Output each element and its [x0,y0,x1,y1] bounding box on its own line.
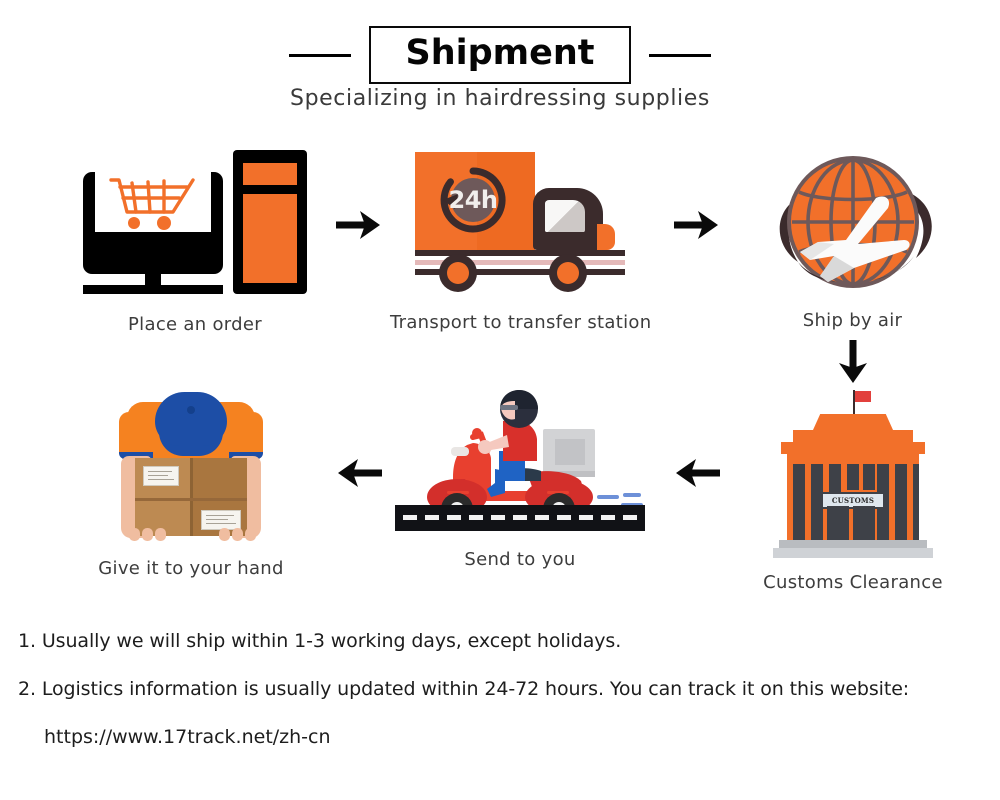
customs-door-left [827,506,849,540]
courier-cap-button [187,406,195,414]
badge-24h: 24h [437,164,509,236]
monitor-stand-base [83,285,223,294]
computer-cart-icon [83,150,307,296]
pc-tower-panel [243,194,297,283]
step-label-send-to-you: Send to you [390,549,650,570]
customs-flag [855,391,871,402]
truck-wheel-rear-hub [447,262,469,284]
shopping-cart-icon [107,174,203,230]
truck-nose [597,224,615,250]
step-place-an-order: Place an order [60,150,330,335]
customs-roof-mid [793,430,913,442]
customs-window [913,464,919,540]
header-rule-right [649,54,711,57]
step-label-place-an-order: Place an order [60,314,330,335]
parcel-box-seam [190,458,193,536]
notes-section: 1. Usually we will ship within 1-3 worki… [18,630,978,748]
tracking-url[interactable]: https://www.17track.net/zh-cn [44,726,978,748]
customs-door-right [853,506,875,540]
delivery-truck-icon: 24h [415,152,625,296]
shipment-infographic: Shipment Specializing in hairdressing su… [0,0,1000,800]
scooter-courier-icon [395,385,645,535]
customs-window-upper [847,464,859,490]
badge-24h-label: 24h [437,164,509,236]
truck-wheel-front-hub [557,262,579,284]
customs-sign-text: CUSTOMS [832,496,874,505]
parcel-shipping-label-top [143,466,179,486]
title-box: Shipment [369,26,630,84]
customs-window [793,464,805,540]
customs-building-icon: CUSTOMS [767,390,939,560]
arrow-right-icon-truck-to-globe [672,208,722,242]
step-label-ship-by-air: Ship by air [740,310,965,331]
step-label-customs-clearance: Customs Clearance [760,572,946,593]
customs-window-upper [863,464,875,490]
customs-window [895,464,907,540]
page-subtitle: Specializing in hairdressing supplies [0,86,1000,111]
step-ship-by-air: Ship by air [740,146,965,331]
customs-plinth-lower [773,548,933,558]
step-customs-clearance: CUSTOMS Customs Clearance [760,390,946,593]
globe-airplane-icon [758,146,948,300]
step-send-to-you: Send to you [390,385,650,570]
step-give-it-to-your-hand: Give it to your hand [98,388,284,579]
arrow-left-icon-customs-to-scooter [672,456,722,490]
header: Shipment [0,26,1000,84]
parcel-shipping-label-bottom [201,510,241,530]
arrow-down-icon-globe-to-customs [836,338,870,386]
arrow-left-icon-scooter-to-hand [334,456,384,490]
courier-fingers [127,528,257,544]
courier-holding-parcel-icon [113,388,269,544]
pc-tower-drive-bay [243,163,297,185]
step-label-transport: Transport to transfer station [390,312,650,333]
arrow-right-icon-order-to-truck [334,208,384,242]
truck-window [545,200,585,232]
note-shipping-time: 1. Usually we will ship within 1-3 worki… [18,630,978,652]
header-rule-left [289,54,351,57]
customs-roof-peak [813,414,893,430]
parcel-box-tape [135,498,247,501]
page-title: Shipment [405,32,594,74]
customs-cornice [781,442,925,454]
courier-cap [155,392,227,446]
note-logistics-update: 2. Logistics information is usually upda… [18,678,978,700]
step-transport-to-transfer-station: 24h Transport to transfer station [390,152,650,333]
step-label-give-it-to-your-hand: Give it to your hand [98,558,284,579]
customs-window [811,464,823,540]
customs-plinth-upper [779,540,927,548]
